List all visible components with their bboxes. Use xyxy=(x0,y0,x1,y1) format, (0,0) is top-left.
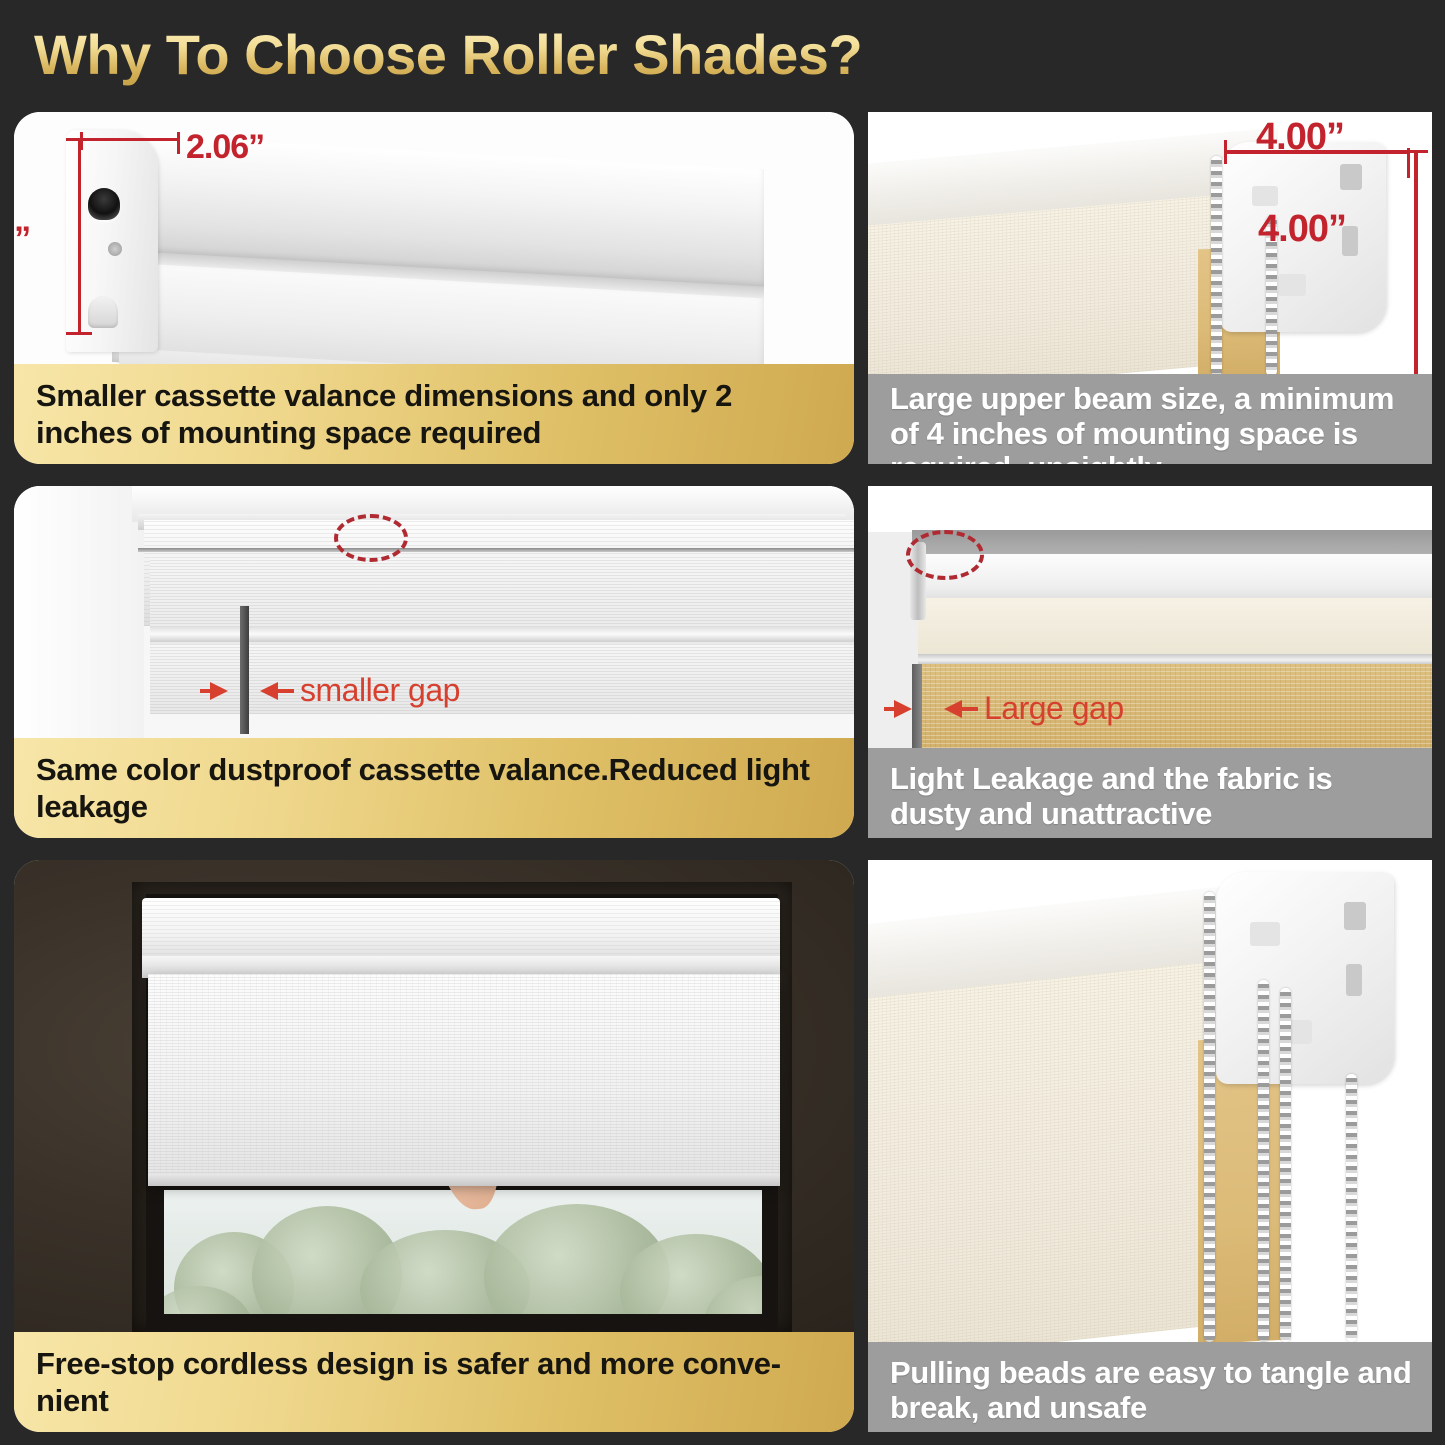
panel-image-cassette: 2.06” 5.49” xyxy=(14,112,854,364)
dimension-line-width xyxy=(80,138,180,141)
gap-label-large: Large gap xyxy=(984,690,1124,727)
caption-text: Smaller cassette valance dimensions and … xyxy=(36,378,836,451)
dimension-label-height: 5.49” xyxy=(14,220,30,259)
panel-image-smaller-gap: smaller gap xyxy=(14,486,854,738)
caption-text: Large upper beam size, a minimum of 4 in… xyxy=(890,382,1414,464)
panel-image-large-gap: Large gap xyxy=(868,486,1432,748)
panel-large-gap: Large gap Light Leakage and the fabric i… xyxy=(868,486,1432,838)
panel-cordless-design: Free-stop cordless design is safer and m… xyxy=(14,860,854,1432)
highlight-ellipse xyxy=(906,530,984,580)
highlight-ellipse-detail xyxy=(334,514,408,562)
infographic-page: Why To Choose Roller Shades? 2.06” 5.49” xyxy=(0,0,1445,1445)
bead-chain xyxy=(1346,1074,1357,1342)
dimension-label-beam-width: 4.00” xyxy=(1256,116,1344,159)
dimension-cap-top xyxy=(66,138,92,141)
dimension-tick-right xyxy=(177,132,180,154)
panel-image-pulling-beads xyxy=(868,860,1432,1342)
panel-caption-smaller-gap: Same color dustproof cassette valance.Re… xyxy=(14,738,854,838)
panel-caption-cassette: Smaller cassette valance dimensions and … xyxy=(14,364,854,464)
caption-text: Free-stop cordless design is safer and m… xyxy=(36,1346,781,1419)
panel-caption-pulling-beads: Pulling beads are easy to tangle and bre… xyxy=(868,1342,1432,1432)
panel-caption-large-gap: Light Leakage and the fabric is dusty an… xyxy=(868,748,1432,838)
bead-chain xyxy=(1211,156,1222,374)
panel-smaller-gap: smaller gap Same color dustproof cassett… xyxy=(14,486,854,838)
panel-large-upper-beam: 4.00” 4.00” Large upper beam size, a min… xyxy=(868,112,1432,464)
panel-caption-large-beam: Large upper beam size, a minimum of 4 in… xyxy=(868,374,1432,464)
roller-bracket xyxy=(1216,872,1394,1084)
bead-chain xyxy=(1258,980,1269,1342)
caption-text: Same color dustproof cassette valance.Re… xyxy=(36,752,836,825)
panel-caption-cordless: Free-stop cordless design is safer and m… xyxy=(14,1332,854,1432)
panel-cassette-dimensions: 2.06” 5.49” Smaller cassette valance dim… xyxy=(14,112,854,464)
caption-text: Pulling beads are easy to tangle and bre… xyxy=(890,1356,1414,1425)
panel-pulling-beads: Pulling beads are easy to tangle and bre… xyxy=(868,860,1432,1432)
page-title: Why To Choose Roller Shades? xyxy=(34,22,862,87)
caption-text: Light Leakage and the fabric is dusty an… xyxy=(890,762,1414,831)
dimension-line-height xyxy=(78,138,81,334)
panel-image-large-beam: 4.00” 4.00” xyxy=(868,112,1432,374)
bead-chain xyxy=(1204,892,1215,1342)
dimension-cap-bottom xyxy=(66,332,92,335)
gap-indicator xyxy=(240,606,249,734)
gap-label-smaller: smaller gap xyxy=(300,672,460,709)
panel-image-cordless xyxy=(14,860,854,1332)
bead-chain xyxy=(1280,988,1291,1342)
window-glass xyxy=(164,1190,762,1314)
dimension-label-width: 2.06” xyxy=(186,128,264,167)
dimension-label-beam-height: 4.00” xyxy=(1258,208,1346,251)
